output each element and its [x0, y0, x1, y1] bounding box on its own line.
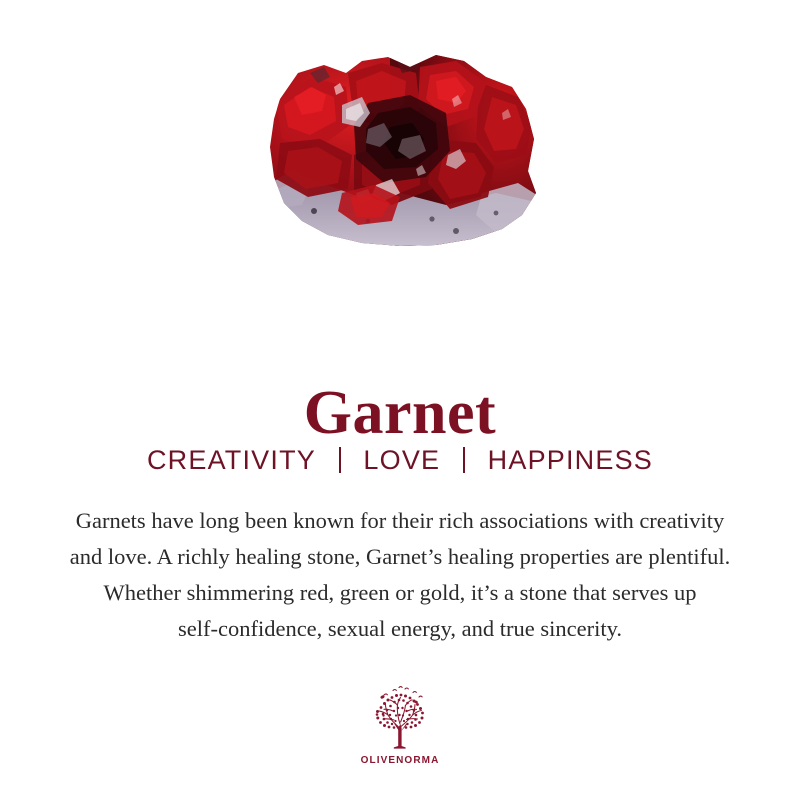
product-info-card: Garnet CREATIVITY LOVE HAPPINESS Garnets…: [0, 0, 800, 800]
description-line: and love. A richly healing stone, Garnet…: [20, 539, 780, 575]
tree-icon: [364, 684, 436, 752]
keyword-separator: [339, 447, 341, 473]
keyword-separator: [463, 447, 465, 473]
description-line: self-confidence, sexual energy, and true…: [20, 611, 780, 647]
page-title: Garnet: [0, 378, 800, 448]
description-line: Whether shimmering red, green or gold, i…: [20, 575, 780, 611]
keyword-list: CREATIVITY LOVE HAPPINESS: [0, 443, 800, 477]
garnet-stone-illustration: [250, 43, 550, 258]
brand-logo: OLIVENORMA: [0, 684, 800, 766]
description-line: Garnets have long been known for their r…: [20, 503, 780, 539]
keyword-love: LOVE: [363, 443, 440, 477]
keyword-happiness: HAPPINESS: [488, 443, 653, 477]
brand-name: OLIVENORMA: [361, 755, 440, 766]
garnet-stone-image: [0, 0, 800, 300]
keyword-creativity: CREATIVITY: [147, 443, 316, 477]
description-text: Garnets have long been known for their r…: [20, 503, 780, 647]
